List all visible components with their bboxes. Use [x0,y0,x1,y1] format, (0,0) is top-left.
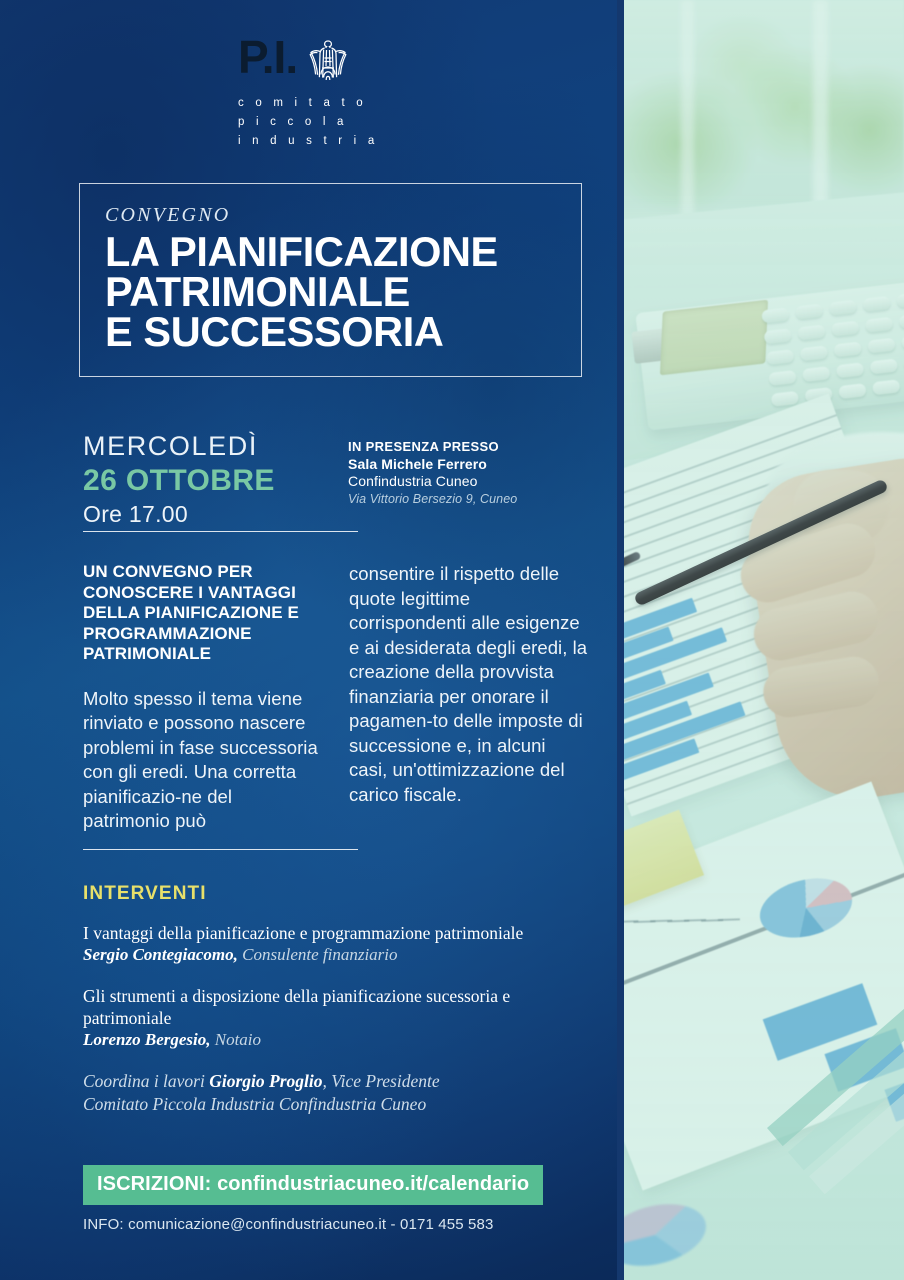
talk-speaker-name: Lorenzo Bergesio, [83,1030,211,1049]
talk-speaker-line: Sergio Contegiacomo, Consulente finanzia… [83,944,583,966]
date-block: MERCOLEDÌ 26 OTTOBRE Ore 17.00 [83,430,275,529]
venue-block: IN PRESENZA PRESSO Sala Michele Ferrero … [348,438,517,508]
window-mullion-icon [813,0,828,216]
venue-organization: Confindustria Cuneo [348,473,517,491]
confindustria-eagle-icon [306,38,350,86]
logo-subtitle: c o m i t a t o p i c c o l a i n d u s … [238,94,388,151]
logo: P.I. [238,36,388,151]
talk-title: I vantaggi della pianificazione e progra… [83,922,583,944]
logo-sub-line-1: c o m i t a t o [238,94,388,113]
event-weekday: MERCOLEDÌ [83,430,275,462]
body-column-right: consentire il rispetto delle quote legit… [349,562,589,807]
contact-info: INFO: comunicazione@confindustriacuneo.i… [83,1216,494,1233]
event-time: Ore 17.00 [83,499,275,529]
logo-acronym: P.I. [238,36,297,78]
event-kicker: CONVEGNO [105,204,565,227]
body-column-left: UN CONVEGNO PER CONOSCERE I VANTAGGI DEL… [83,562,318,834]
venue-address: Via Vittorio Bersezio 9, Cuneo [348,491,517,509]
talk-item: Gli strumenti a disposizione della piani… [83,985,583,1051]
headline-line-3: E SUCCESSORIA [105,312,565,352]
coordinator-role: , Vice Presidente [323,1071,440,1091]
venue-mode: IN PRESENZA PRESSO [348,438,517,456]
interventi-heading: INTERVENTI [83,883,207,905]
coordinator-name: Giorgio Proglio [209,1071,322,1091]
pie-chart-graphic [617,1194,712,1275]
event-poster: P.I. [0,0,904,1280]
panel-divider-rail [617,0,624,1280]
calculator-screen [660,300,768,376]
logo-sub-line-3: i n d u s t r i a [238,132,388,151]
talk-speaker-line: Lorenzo Bergesio, Notaio [83,1029,583,1051]
event-date: 26 OTTOBRE [83,462,275,499]
coordinator-org: Comitato Piccola Industria Confindustria… [83,1093,583,1116]
window-mullion-icon [681,0,694,216]
coordinator-prefix: Coordina i lavori [83,1071,209,1091]
divider-top [83,531,358,532]
coordinator-block: Coordina i lavori Giorgio Proglio, Vice … [83,1070,583,1116]
headline-line-2: PATRIMONIALE [105,272,565,312]
body-lede: UN CONVEGNO PER CONOSCERE I VANTAGGI DEL… [83,562,318,665]
talk-speaker-role: Notaio [215,1030,261,1049]
venue-room: Sala Michele Ferrero [348,456,517,474]
page-title: LA PIANIFICAZIONE PATRIMONIALE E SUCCESS… [105,232,565,352]
talk-item: I vantaggi della pianificazione e progra… [83,922,583,966]
talk-speaker-role: Consulente finanziario [242,945,397,964]
calculator-keys [761,290,904,421]
financial-photo-strip [617,0,904,1280]
body-paragraph-right: consentire il rispetto delle quote legit… [349,562,589,807]
headline-line-1: LA PIANIFICAZIONE [105,232,565,272]
divider-bottom [83,849,358,850]
registration-bar[interactable]: ISCRIZIONI: confindustriacuneo.it/calend… [83,1165,543,1205]
title-box: CONVEGNO LA PIANIFICAZIONE PATRIMONIALE … [79,183,582,377]
talk-title: Gli strumenti a disposizione della piani… [83,985,583,1029]
talk-speaker-name: Sergio Contegiacomo, [83,945,238,964]
interventi-list: I vantaggi della pianificazione e progra… [83,922,583,1116]
body-paragraph-left: Molto spesso il tema viene rinviato e po… [83,687,318,834]
logo-sub-line-2: p i c c o l a [238,113,388,132]
